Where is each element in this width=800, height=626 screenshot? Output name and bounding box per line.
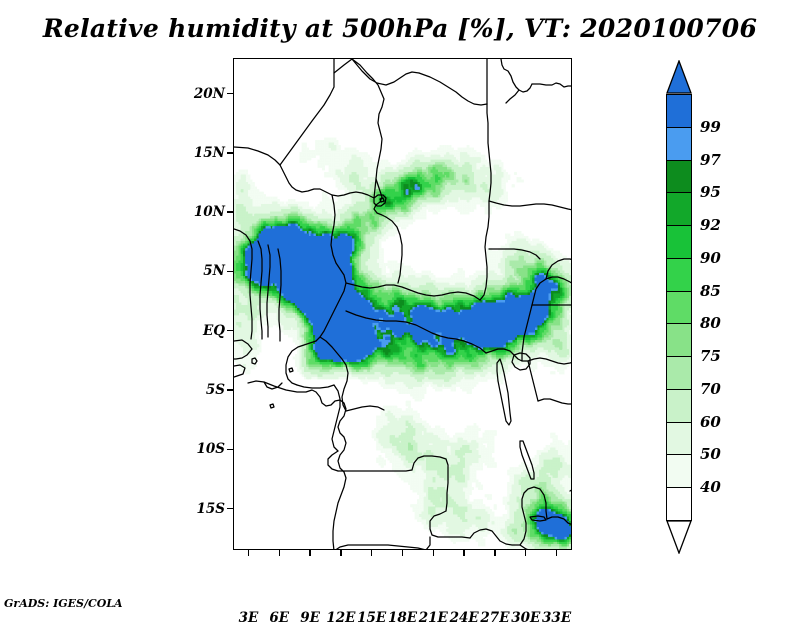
colorbar-tick-label: 40 (700, 478, 721, 496)
y-tick (227, 152, 233, 153)
x-tick-label: 21E (419, 610, 448, 626)
x-tick (309, 550, 310, 556)
y-tick-label: 5N (203, 263, 225, 279)
colorbar-band (666, 291, 692, 325)
y-tick-label: 10N (194, 204, 225, 220)
y-tick-label: 10S (196, 441, 225, 457)
colorbar-tick-label: 85 (700, 282, 721, 300)
x-tick (525, 550, 526, 556)
colorbar-band (666, 94, 692, 128)
colorbar-tick-label: 75 (700, 347, 721, 365)
colorbar-band (666, 323, 692, 357)
colorbar-band (666, 389, 692, 423)
x-tick (248, 550, 249, 556)
colorbar-tick-label: 95 (700, 183, 721, 201)
colorbar-band (666, 356, 692, 390)
y-tick-label: 15S (196, 501, 225, 517)
x-tick (494, 550, 495, 556)
x-tick (556, 550, 557, 556)
x-tick (433, 550, 434, 556)
y-tick (227, 449, 233, 450)
x-tick (371, 550, 372, 556)
x-tick (402, 550, 403, 556)
y-tick (227, 271, 233, 272)
colorbar-tick-label: 80 (700, 314, 721, 332)
map-plot-area: 3E6E9E12E15E18E21E24E27E30E33E 20N15N10N… (233, 58, 572, 550)
colorbar-tick-label: 60 (700, 413, 721, 431)
x-tick-label: 24E (450, 610, 479, 626)
colorbar-tick-label: 92 (700, 216, 721, 234)
colorbar-tick-label: 97 (700, 151, 721, 169)
colorbar-bottom-arrow (666, 520, 692, 554)
x-tick-label: 15E (357, 610, 386, 626)
colorbar-band (666, 192, 692, 226)
x-tick (463, 550, 464, 556)
colorbar-tick-label: 50 (700, 445, 721, 463)
colorbar-band (666, 422, 692, 456)
y-tick (227, 211, 233, 212)
x-tick-label: 12E (326, 610, 355, 626)
x-tick-label: 3E (239, 610, 259, 626)
colorbar-tick-label: 99 (700, 118, 721, 136)
colorbar-top-arrow (666, 60, 692, 94)
y-tick (227, 389, 233, 390)
y-tick (227, 93, 233, 94)
y-tick-label: EQ (203, 323, 225, 339)
page-title: Relative humidity at 500hPa [%], VT: 202… (0, 14, 800, 43)
y-tick (227, 508, 233, 509)
plot-frame (233, 58, 572, 550)
colorbar-band (666, 160, 692, 194)
x-tick (340, 550, 341, 556)
x-tick-label: 18E (388, 610, 417, 626)
colorbar-band (666, 454, 692, 488)
colorbar-band (666, 487, 692, 521)
x-tick-label: 9E (300, 610, 320, 626)
x-tick-label: 33E (542, 610, 571, 626)
y-tick-label: 5S (206, 382, 225, 398)
y-tick-label: 20N (194, 86, 225, 102)
x-tick (279, 550, 280, 556)
footer-credit: GrADS: IGES/COLA (4, 597, 123, 610)
x-tick-label: 30E (511, 610, 540, 626)
y-tick (227, 330, 233, 331)
y-tick-label: 15N (194, 145, 225, 161)
map-overlay (234, 59, 572, 550)
colorbar[interactable]: 999795929085807570605040 (666, 58, 800, 558)
x-tick-label: 27E (480, 610, 509, 626)
x-tick-label: 6E (269, 610, 289, 626)
colorbar-band (666, 258, 692, 292)
colorbar-tick-label: 70 (700, 380, 721, 398)
colorbar-band (666, 225, 692, 259)
colorbar-band (666, 127, 692, 161)
colorbar-tick-label: 90 (700, 249, 721, 267)
